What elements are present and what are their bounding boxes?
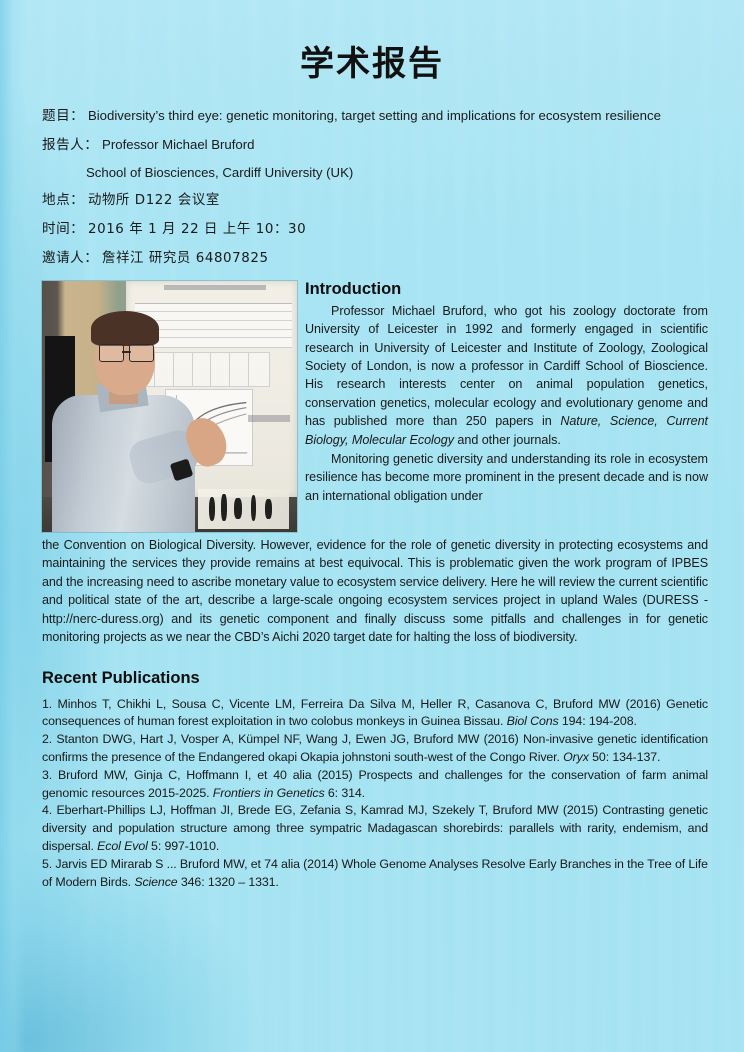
topic-value: Biodiversity’s third eye: genetic monito… [88,108,661,123]
publication-locator: 346: 1320 – 1331. [178,875,279,889]
publication-journal: Ecol Evol [97,839,148,853]
speaker-photo [42,281,297,532]
meta-row-place: 地点： 动物所 D122 会议室 [42,193,708,208]
topic-label: 题目： [42,108,84,124]
publication-journal: Oryx [563,750,589,764]
publication-journal: Biol Cons [507,714,559,728]
meta-row-time: 时间： 2016 年 1 月 22 日 上午 10：30 [42,222,708,237]
introduction-section: Introduction Professor Michael Bruford, … [0,280,744,647]
publication-item: 1. Minhos T, Chikhi L, Sousa C, Vicente … [42,696,708,732]
time-value: 2016 年 1 月 22 日 上午 10：30 [88,222,306,237]
photo-slide-title-bar [164,285,267,290]
photo-speaker-glasses [99,344,153,359]
speaker-value: Professor Michael Bruford [102,137,254,152]
photo-speaker-figure [52,311,195,532]
meta-row-speaker: 报告人： Professor Michael Bruford [42,138,708,152]
meta-row-affiliation: School of Biosciences, Cardiff Universit… [42,166,708,180]
publication-journal: Science [134,875,177,889]
host-label: 邀请人： [42,250,98,266]
meta-row-host: 邀请人： 詹祥江 研究员 64807825 [42,251,708,266]
publication-locator: 50: 134-137. [589,750,660,764]
affiliation-value: School of Biosciences, Cardiff Universit… [86,165,353,180]
place-label: 地点： [42,192,84,208]
publication-locator: 194: 194-208. [559,714,637,728]
publication-locator: 5: 997-1010. [148,839,219,853]
page-title: 学术报告 [0,0,744,83]
publication-locator: 6: 314. [325,786,365,800]
seminar-poster: 学术报告 题目： Biodiversity’s third eye: genet… [0,0,744,1052]
publications-heading: Recent Publications [42,669,708,688]
intro-p1-text-b: and other journals. [454,433,561,447]
speaker-label: 报告人： [42,137,98,153]
place-value: 动物所 D122 会议室 [88,193,220,208]
introduction-paragraph-2-flow: the Convention on Biological Diversity. … [42,536,708,647]
time-label: 时间： [42,221,84,237]
publications-section: Recent Publications 1. Minhos T, Chikhi … [0,669,744,892]
host-value: 詹祥江 研究员 64807825 [102,251,269,266]
publication-item: 3. Bruford MW, Ginja C, Hoffmann I, et 4… [42,767,708,803]
publication-item: 5. Jarvis ED Mirarab S ... Bruford MW, e… [42,856,708,892]
publication-citation: 3. Bruford MW, Ginja C, Hoffmann I, et 4… [42,768,708,800]
photo-calligraphy-board [198,489,290,529]
publication-item: 4. Eberhart-Phillips LJ, Hoffman JI, Bre… [42,802,708,855]
seminar-metadata: 题目： Biodiversity’s third eye: genetic mo… [0,109,744,266]
photo-speaker-hair [91,311,160,346]
photo-slide-timestamp [248,415,290,422]
meta-row-topic: 题目： Biodiversity’s third eye: genetic mo… [42,109,708,123]
intro-p1-text-a: Professor Michael Bruford, who got his z… [305,304,708,428]
publication-item: 2. Stanton DWG, Hart J, Vosper A, Kümpel… [42,731,708,767]
publication-journal: Frontiers in Genetics [213,786,325,800]
